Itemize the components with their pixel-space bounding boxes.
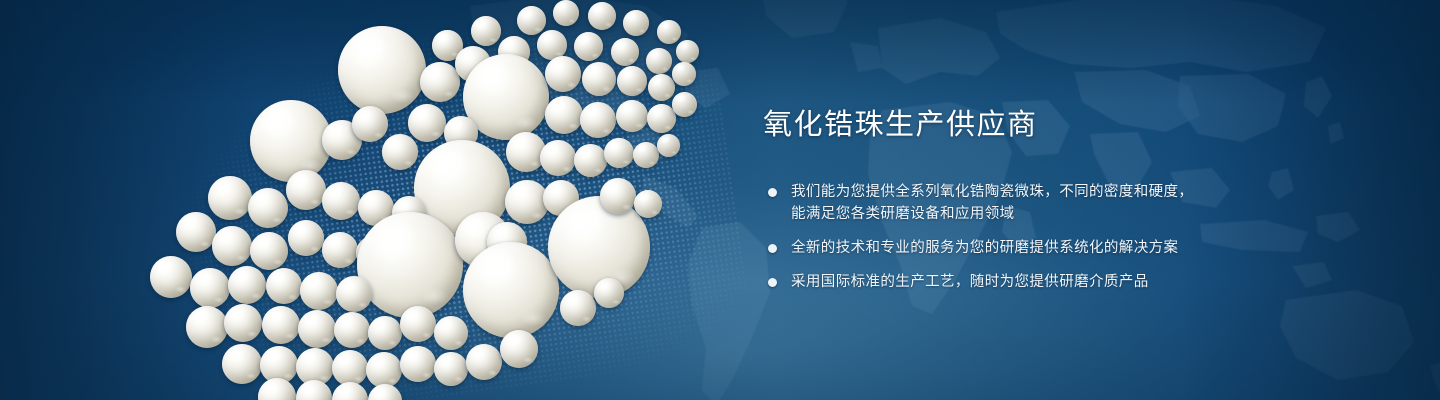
bullet-line: 我们能为您提供全系列氧化锆陶瓷微珠，不同的密度和硬度， <box>791 182 1283 203</box>
list-item: 全新的技术和专业的服务为您的研磨提供系统化的解决方案 <box>763 238 1283 259</box>
bullet-dot-icon <box>768 278 777 287</box>
banner-bullet-list: 我们能为您提供全系列氧化锆陶瓷微珠，不同的密度和硬度， 能满足您各类研磨设备和应… <box>763 182 1283 293</box>
hero-banner: 氧化锆珠生产供应商 我们能为您提供全系列氧化锆陶瓷微珠，不同的密度和硬度， 能满… <box>0 0 1440 400</box>
banner-copy: 氧化锆珠生产供应商 我们能为您提供全系列氧化锆陶瓷微珠，不同的密度和硬度， 能满… <box>763 108 1283 293</box>
bullet-dot-icon <box>768 188 777 197</box>
bullet-line: 能满足您各类研磨设备和应用领域 <box>791 204 1283 225</box>
list-item: 采用国际标准的生产工艺，随时为您提供研磨介质产品 <box>763 272 1283 293</box>
banner-headline: 氧化锆珠生产供应商 <box>763 108 1283 143</box>
zirconia-beads-image <box>0 0 760 400</box>
bullet-line: 采用国际标准的生产工艺，随时为您提供研磨介质产品 <box>791 272 1283 293</box>
bullet-line: 全新的技术和专业的服务为您的研磨提供系统化的解决方案 <box>791 238 1283 259</box>
list-item: 我们能为您提供全系列氧化锆陶瓷微珠，不同的密度和硬度， 能满足您各类研磨设备和应… <box>763 182 1283 225</box>
bullet-dot-icon <box>768 244 777 253</box>
